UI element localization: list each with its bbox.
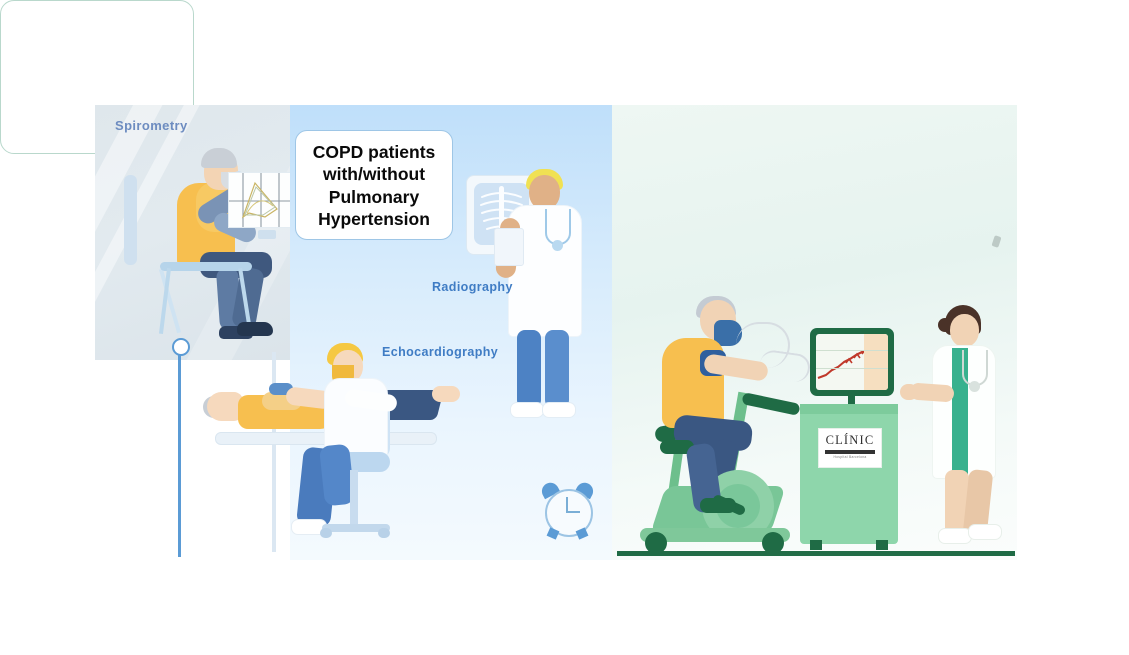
patient-shoe-near <box>237 322 273 336</box>
chair-backrest <box>124 175 137 265</box>
findings-list <box>1 1 193 15</box>
floor-line <box>617 551 1015 556</box>
clipboard-icon <box>494 228 524 266</box>
copd-line-1: COPD patients <box>302 141 446 163</box>
cart-foot-right <box>876 540 888 550</box>
doctor-head <box>950 314 979 347</box>
radiographer-shoe-right <box>542 402 576 418</box>
doctor-shoe-left <box>938 528 972 544</box>
radiography-label: Radiography <box>432 280 513 294</box>
spirometer-readout-badge <box>258 230 276 239</box>
bed-support <box>272 352 276 552</box>
cart-foot-left <box>810 540 822 550</box>
graphical-abstract: Spirometry <box>0 0 1129 655</box>
cart-top-surface <box>800 404 898 414</box>
office-chair-post <box>350 470 358 526</box>
radiographer-leg-right <box>545 330 569 408</box>
radiographer-shoe-left <box>510 402 544 418</box>
clinic-logo-name: CLÍNIC <box>819 433 881 448</box>
clinic-logo: CLÍNIC Hospital Barcelona <box>818 428 882 468</box>
copd-title-text: COPD patients with/without Pulmonary Hyp… <box>296 131 452 231</box>
copd-line-2: with/without <box>302 163 446 185</box>
clock-minute-hand <box>566 511 580 513</box>
spirometry-flow-volume-chart <box>228 172 298 228</box>
clinic-logo-subtitle: Hospital Barcelona <box>819 455 881 459</box>
stethoscope-diaphragm <box>552 240 563 251</box>
iv-pole-hook-icon <box>172 338 190 356</box>
office-chair-wheel-right <box>378 528 390 538</box>
echo-patient-foot <box>432 386 460 402</box>
copd-line-3: Pulmonary <box>302 186 446 208</box>
monitor-screen <box>816 334 888 390</box>
doctor-shoe-right <box>968 524 1002 540</box>
spirometry-label: Spirometry <box>115 118 188 133</box>
echocardiography-label: Echocardiography <box>382 345 498 359</box>
copd-title-callout: COPD patients with/without Pulmonary Hyp… <box>295 130 453 240</box>
cyclist-shoe-near <box>700 498 736 513</box>
cpet-equipment-cart <box>800 404 898 544</box>
flow-volume-loop <box>229 173 297 227</box>
office-chair-wheel-left <box>320 528 332 538</box>
iv-pole <box>178 345 181 557</box>
copd-line-4: Hypertension <box>302 208 446 230</box>
clinic-logo-bar <box>825 450 875 454</box>
doctor-hand <box>900 384 918 400</box>
doctor-stethoscope-diaphragm <box>969 381 980 392</box>
monitor-threshold-zone <box>864 334 888 390</box>
radiographer-leg-left <box>517 330 541 408</box>
